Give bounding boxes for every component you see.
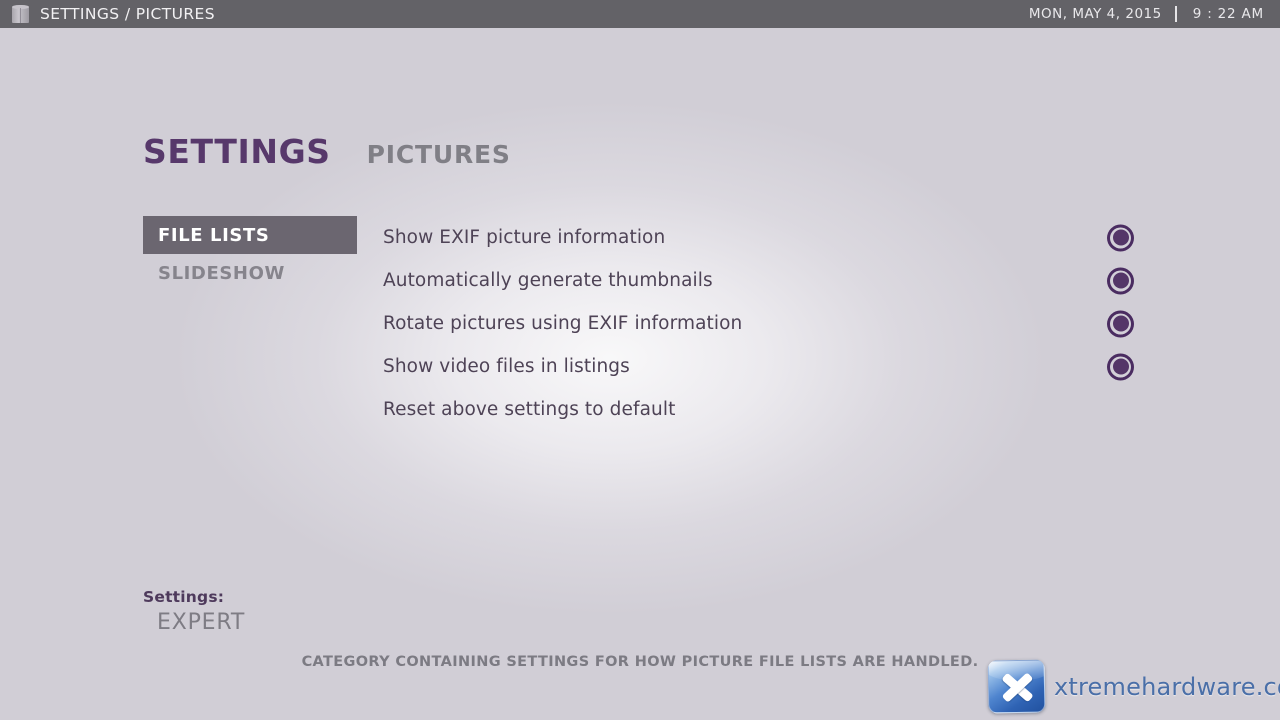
setting-label: Reset above settings to default <box>383 399 675 420</box>
setting-label: Automatically generate thumbnails <box>383 270 713 291</box>
radio-ring <box>1110 227 1131 248</box>
radio-ring <box>1110 270 1131 291</box>
date-display: MON, MAY 4, 2015 <box>1029 6 1162 22</box>
radio-dot <box>1113 230 1129 246</box>
radio-toggle-generate-thumbnails[interactable] <box>1107 267 1134 294</box>
setting-row-show-exif[interactable]: Show EXIF picture information <box>383 216 1143 259</box>
sidebar-item-file-lists[interactable]: FILE LISTS <box>143 216 357 254</box>
setting-row-reset-defaults[interactable]: Reset above settings to default <box>383 388 1143 431</box>
top-bar-left: SETTINGS / PICTURES <box>0 4 215 24</box>
page-title-sub: PICTURES <box>367 140 511 169</box>
settings-screen: SETTINGS / PICTURES MON, MAY 4, 2015 9 :… <box>0 0 1280 720</box>
settings-level-value: EXPERT <box>157 610 245 635</box>
category-list: FILE LISTS SLIDESHOW <box>143 216 357 292</box>
clock-separator <box>1175 6 1177 22</box>
radio-toggle-rotate-pictures[interactable] <box>1107 310 1134 337</box>
radio-dot <box>1113 359 1129 375</box>
top-bar-right: MON, MAY 4, 2015 9 : 22 AM <box>1029 6 1280 22</box>
radio-ring <box>1110 356 1131 377</box>
time-display: 9 : 22 AM <box>1193 6 1264 22</box>
page-title: SETTINGS PICTURES <box>143 132 511 171</box>
setting-label: Rotate pictures using EXIF information <box>383 313 742 334</box>
setting-row-show-video-files[interactable]: Show video files in listings <box>383 345 1143 388</box>
settings-level[interactable]: Settings: EXPERT <box>143 588 245 635</box>
sidebar-item-slideshow[interactable]: SLIDESHOW <box>143 254 357 292</box>
radio-toggle-show-video-files[interactable] <box>1107 353 1134 380</box>
radio-dot <box>1113 273 1129 289</box>
setting-label: Show video files in listings <box>383 356 630 377</box>
radio-dot <box>1113 316 1129 332</box>
x-logo-icon <box>988 660 1046 714</box>
top-bar: SETTINGS / PICTURES MON, MAY 4, 2015 9 :… <box>0 0 1280 28</box>
setting-label: Show EXIF picture information <box>383 227 665 248</box>
radio-toggle-show-exif[interactable] <box>1107 224 1134 251</box>
watermark-text: xtremehardware.com <box>1054 673 1280 701</box>
watermark: xtremehardware.com <box>988 660 1280 713</box>
radio-ring <box>1110 313 1131 334</box>
settings-list: Show EXIF picture information Automatica… <box>383 216 1143 431</box>
setting-row-rotate-pictures[interactable]: Rotate pictures using EXIF information <box>383 302 1143 345</box>
breadcrumb: SETTINGS / PICTURES <box>40 5 215 23</box>
box-icon <box>12 5 29 24</box>
setting-row-generate-thumbnails[interactable]: Automatically generate thumbnails <box>383 259 1143 302</box>
category-label: FILE LISTS <box>158 225 269 246</box>
category-label: SLIDESHOW <box>158 263 285 284</box>
page-title-main: SETTINGS <box>143 132 331 171</box>
settings-level-label: Settings: <box>143 588 245 606</box>
